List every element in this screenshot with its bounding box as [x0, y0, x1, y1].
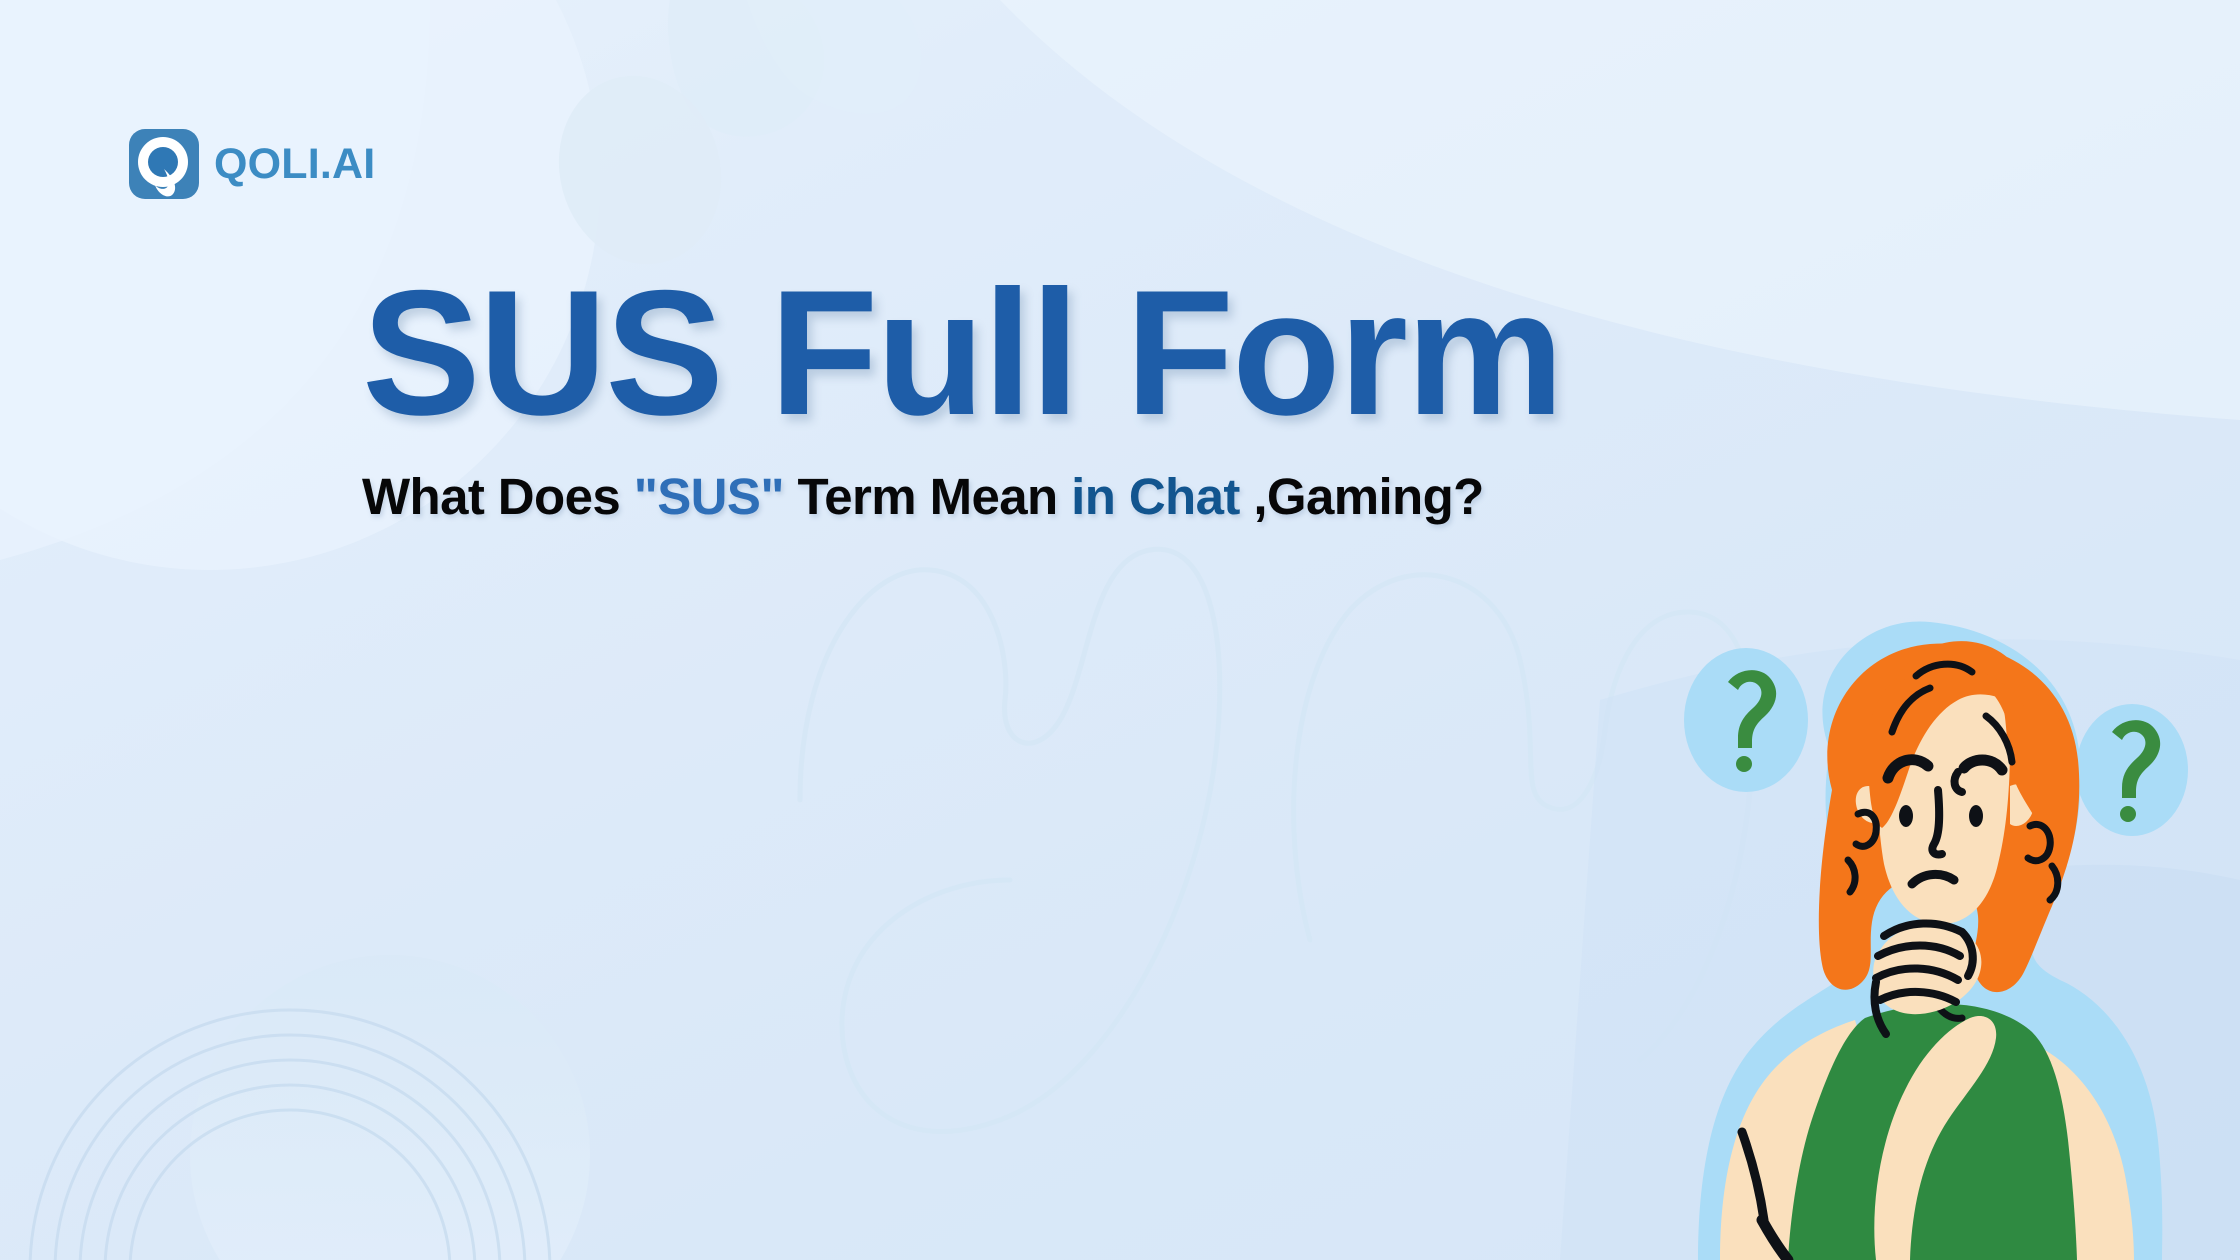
brand-logo-text: QOLI.AI	[214, 143, 375, 186]
subtitle-part-3: Term Mean	[784, 468, 1071, 525]
squiggle-line-decoration	[800, 549, 1753, 1131]
bottom-left-circle-shape	[190, 955, 590, 1260]
qoli-q-logo-icon	[128, 128, 200, 200]
top-blob-oval	[538, 58, 742, 283]
right-eye	[1969, 805, 1983, 827]
thinking-woman-illustration	[1680, 620, 2240, 1260]
headline-block: SUS Full Form What Does "SUS" Term Mean …	[362, 268, 1562, 524]
page-subtitle: What Does "SUS" Term Mean in Chat ,Gamin…	[362, 469, 1562, 524]
subtitle-highlight-chat: in Chat	[1071, 468, 1240, 525]
top-blob-small	[668, 0, 824, 137]
page-title: SUS Full Form	[362, 268, 1562, 439]
left-eye	[1899, 805, 1913, 827]
concentric-rings-decoration	[30, 1010, 550, 1260]
subtitle-part-5: ,Gaming?	[1240, 468, 1484, 525]
subtitle-highlight-sus: "SUS"	[634, 468, 784, 525]
brand-logo[interactable]: QOLI.AI	[128, 128, 375, 200]
top-blob-upper	[741, 0, 921, 114]
banner: QOLI.AI SUS Full Form What Does "SUS" Te…	[0, 0, 2240, 1260]
subtitle-part-1: What Does	[362, 468, 634, 525]
